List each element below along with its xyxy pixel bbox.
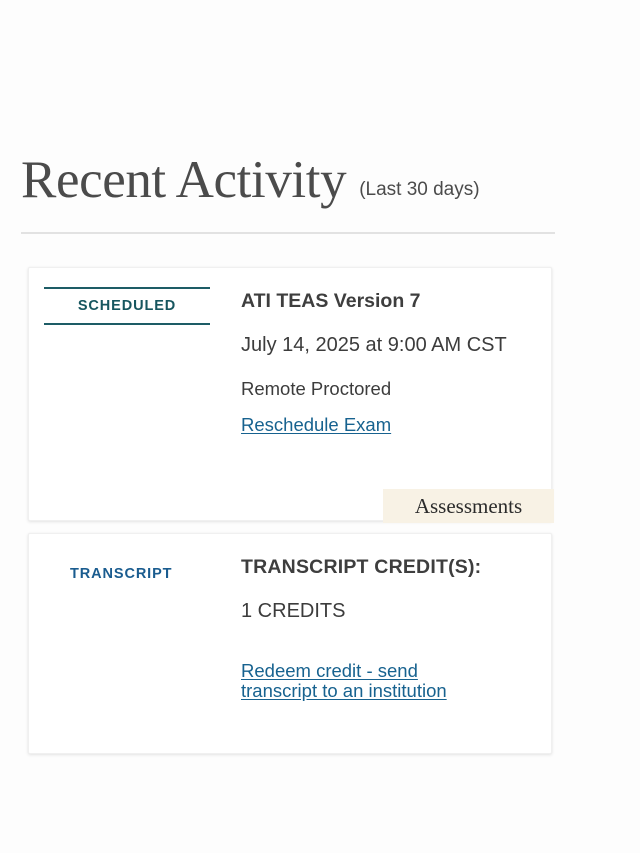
page-title: Recent Activity	[21, 150, 346, 210]
activity-card-transcript[interactable]: TRANSCRIPT TRANSCRIPT CREDIT(S): 1 CREDI…	[28, 533, 552, 754]
recent-activity-page: Recent Activity (Last 30 days) SCHEDULED…	[0, 0, 640, 853]
status-badge: SCHEDULED	[44, 287, 210, 325]
card-status-column: SCHEDULED	[29, 268, 241, 520]
card-inner: TRANSCRIPT TRANSCRIPT CREDIT(S): 1 CREDI…	[29, 534, 551, 753]
page-header-row: Recent Activity (Last 30 days)	[21, 150, 555, 210]
status-badge-label: SCHEDULED	[44, 289, 210, 323]
header-divider	[21, 232, 555, 234]
page-header: Recent Activity (Last 30 days)	[21, 150, 555, 234]
page-subtitle: (Last 30 days)	[359, 179, 479, 201]
card-content-column: ATI TEAS Version 7 July 14, 2025 at 9:00…	[241, 268, 551, 520]
exam-name: ATI TEAS Version 7	[241, 289, 537, 313]
exam-delivery-mode: Remote Proctored	[241, 377, 519, 401]
activity-card-scheduled[interactable]: SCHEDULED ATI TEAS Version 7 July 14, 20…	[28, 267, 552, 521]
assessments-overlay-label: Assessments	[415, 494, 522, 518]
card-content-column: TRANSCRIPT CREDIT(S): 1 CREDITS Redeem c…	[241, 534, 551, 753]
card-inner: SCHEDULED ATI TEAS Version 7 July 14, 20…	[29, 268, 551, 520]
status-rule-bottom	[44, 323, 210, 325]
transcript-credits-count: 1 CREDITS	[241, 596, 519, 627]
reschedule-exam-link[interactable]: Reschedule Exam	[241, 413, 391, 437]
transcript-credits-heading: TRANSCRIPT CREDIT(S):	[241, 555, 537, 579]
exam-datetime: July 14, 2025 at 9:00 AM CST	[241, 330, 519, 361]
status-badge-label: TRANSCRIPT	[70, 566, 172, 583]
redeem-credit-link[interactable]: Redeem credit - send transcript to an in…	[241, 661, 463, 701]
assessments-overlay-chip[interactable]: Assessments	[383, 489, 554, 523]
card-status-column: TRANSCRIPT	[29, 534, 241, 753]
